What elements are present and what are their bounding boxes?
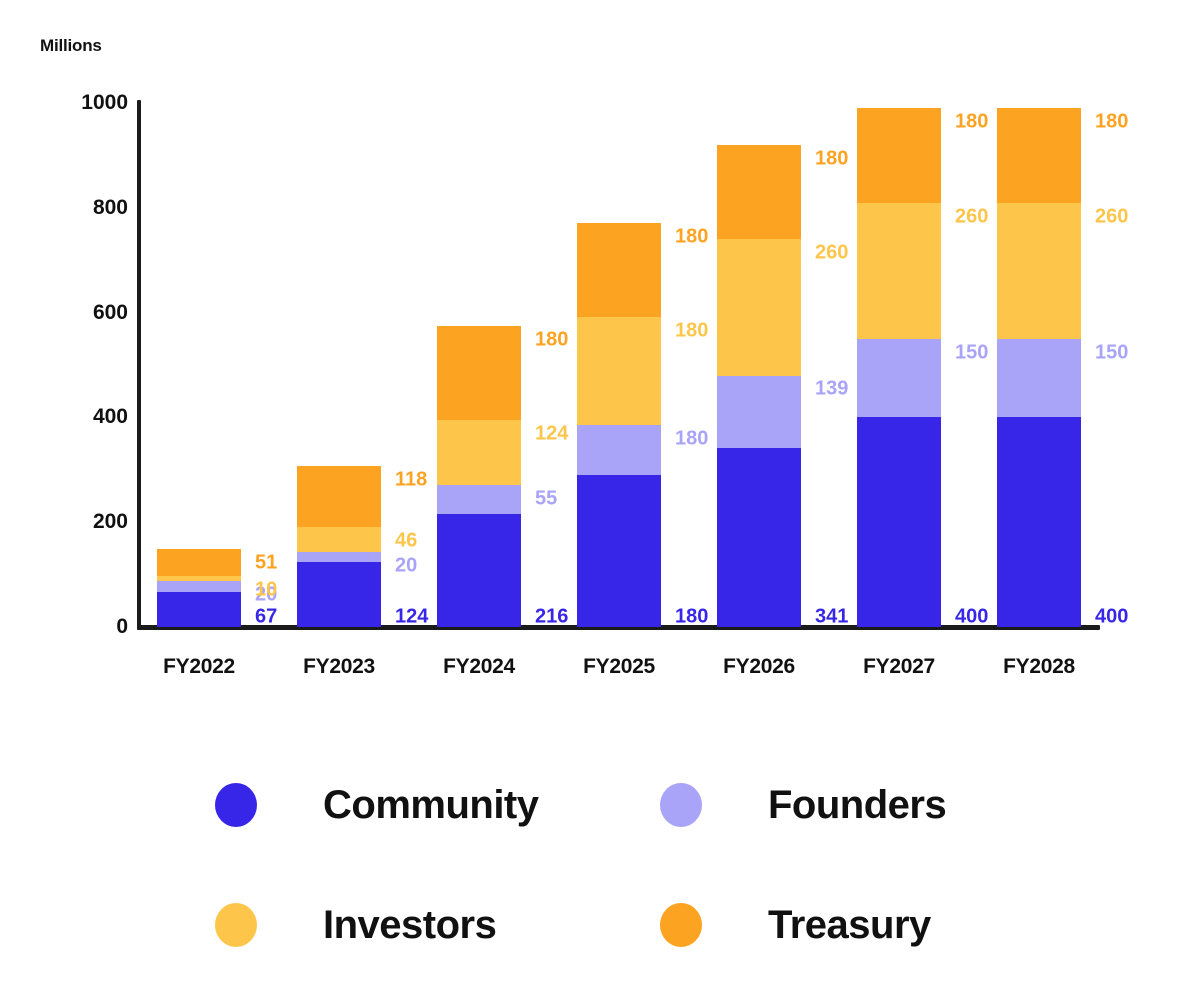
x-axis-label-fy2022: FY2022 [119, 655, 279, 679]
value-label-treasury: 118 [395, 468, 427, 491]
bar-segment-community[interactable] [857, 417, 941, 627]
stacked-bar-chart: Millions 02004006008001000 67201051FY202… [0, 0, 1200, 963]
bar-segment-treasury[interactable] [437, 326, 521, 420]
bar-stack [157, 549, 241, 627]
legend-item-treasury[interactable]: Treasury [660, 865, 1015, 985]
legend-item-founders[interactable]: Founders [660, 745, 1015, 865]
bar-segment-community[interactable] [297, 562, 381, 627]
bar-segment-investors[interactable] [297, 527, 381, 551]
bar-segment-investors[interactable] [577, 317, 661, 424]
x-axis-label-fy2026: FY2026 [679, 655, 839, 679]
bar-segment-treasury[interactable] [577, 223, 661, 317]
bar-segment-founders[interactable] [437, 485, 521, 514]
x-axis-label-fy2024: FY2024 [399, 655, 559, 679]
bar-segment-investors[interactable] [997, 203, 1081, 339]
value-label-treasury: 180 [815, 147, 848, 170]
x-axis-label-fy2023: FY2023 [259, 655, 419, 679]
bar-stack [437, 326, 521, 627]
value-label-founders: 20 [395, 554, 417, 577]
bar-segment-founders[interactable] [577, 425, 661, 475]
value-label-community: 400 [1095, 606, 1128, 629]
value-label-founders: 55 [535, 487, 557, 510]
legend-label: Founders [768, 783, 946, 828]
value-label-community: 216 [535, 606, 568, 629]
bar-segment-founders[interactable] [997, 339, 1081, 418]
bar-segment-treasury[interactable] [857, 108, 941, 202]
bar-stack [577, 223, 661, 627]
value-label-treasury: 180 [955, 111, 988, 134]
bar-segment-community[interactable] [577, 475, 661, 627]
bar-segment-treasury[interactable] [997, 108, 1081, 202]
circle-swatch-investors [215, 903, 257, 947]
legend-label: Investors [323, 903, 496, 948]
bar-segment-investors[interactable] [857, 203, 941, 339]
value-label-investors: 10 [255, 579, 277, 602]
value-label-founders: 150 [955, 341, 988, 364]
legend-label: Treasury [768, 903, 931, 948]
value-label-community: 67 [255, 606, 277, 629]
value-label-treasury: 180 [1095, 111, 1128, 134]
value-label-founders: 150 [1095, 341, 1128, 364]
circle-swatch-treasury [660, 903, 702, 947]
bar-segment-treasury[interactable] [717, 145, 801, 239]
x-axis-label-fy2027: FY2027 [819, 655, 979, 679]
value-label-investors: 180 [675, 320, 708, 343]
x-axis-label-fy2028: FY2028 [959, 655, 1119, 679]
circle-swatch-founders [660, 783, 702, 827]
value-label-treasury: 51 [255, 552, 277, 575]
value-label-investors: 260 [1095, 205, 1128, 228]
circle-swatch-community [215, 783, 257, 827]
bar-segment-investors[interactable] [437, 420, 521, 485]
value-label-investors: 260 [955, 205, 988, 228]
bar-segment-community[interactable] [157, 592, 241, 627]
value-label-treasury: 180 [675, 225, 708, 248]
value-label-community: 341 [815, 606, 848, 629]
bar-segment-community[interactable] [997, 417, 1081, 627]
bar-segment-community[interactable] [437, 514, 521, 627]
bar-segment-founders[interactable] [157, 581, 241, 591]
value-label-investors: 260 [815, 242, 848, 265]
value-label-investors: 46 [395, 530, 417, 553]
bar-segment-founders[interactable] [717, 376, 801, 449]
bar-segment-treasury[interactable] [157, 549, 241, 576]
bar-segment-investors[interactable] [717, 239, 801, 375]
value-label-founders: 180 [675, 427, 708, 450]
x-axis-label-fy2025: FY2025 [539, 655, 699, 679]
value-label-treasury: 180 [535, 328, 568, 351]
bar-segment-founders[interactable] [857, 339, 941, 418]
value-label-founders: 139 [815, 378, 848, 401]
bar-segment-treasury[interactable] [297, 466, 381, 528]
bar-stack [857, 108, 941, 627]
legend-item-community[interactable]: Community [215, 745, 660, 865]
chart-legend: CommunityFoundersInvestorsTreasury [215, 745, 1015, 985]
bar-segment-founders[interactable] [297, 552, 381, 562]
legend-item-investors[interactable]: Investors [215, 865, 660, 985]
value-label-community: 180 [675, 606, 708, 629]
legend-label: Community [323, 783, 539, 828]
bar-stack [997, 108, 1081, 627]
bar-stack [717, 145, 801, 627]
bar-stack [297, 466, 381, 627]
bar-segment-community[interactable] [717, 448, 801, 627]
value-label-investors: 124 [535, 423, 568, 446]
value-label-community: 124 [395, 606, 428, 629]
value-label-community: 400 [955, 606, 988, 629]
